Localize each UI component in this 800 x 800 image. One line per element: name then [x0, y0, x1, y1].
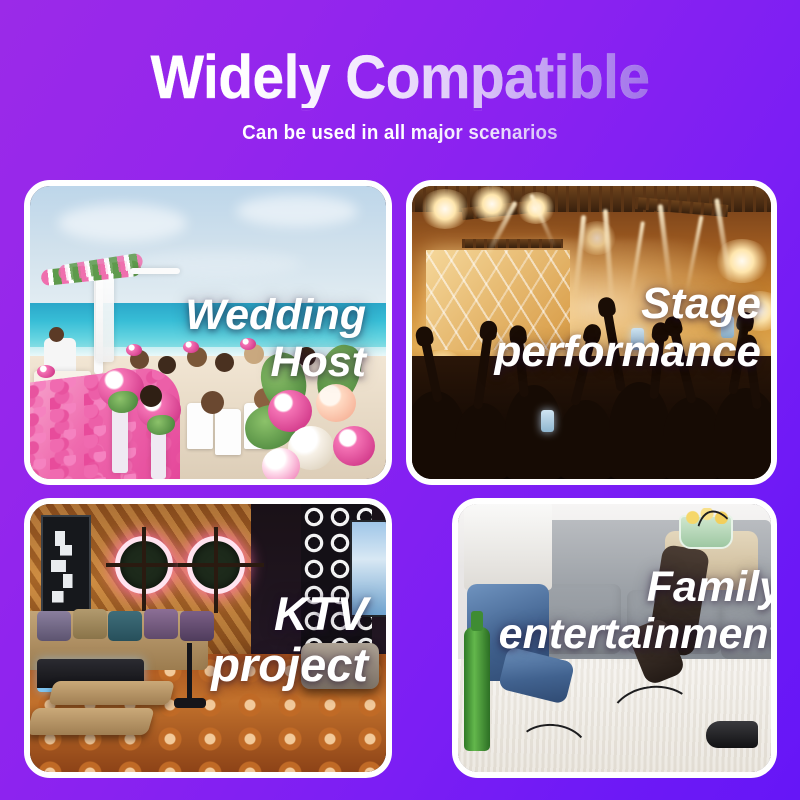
header: Widely Compatible Can be used in all maj…: [0, 0, 800, 176]
scenario-card-wedding[interactable]: Wedding Host: [24, 180, 392, 485]
scene-family-living-room: [458, 504, 771, 772]
scenario-card-family[interactable]: Family entertainment: [452, 498, 777, 778]
page-title: Widely Compatible: [28, 46, 772, 108]
scene-beach-wedding: [30, 186, 386, 479]
poster-canvas: Widely Compatible Can be used in all maj…: [0, 0, 800, 800]
scenario-card-ktv[interactable]: KTV project: [24, 498, 392, 778]
scenario-card-stage[interactable]: Stage performance: [406, 180, 777, 485]
scene-ktv-lounge: [30, 504, 386, 772]
scene-stage-performance: [412, 186, 771, 479]
page-subtitle: Can be used in all major scenarios: [24, 122, 776, 145]
